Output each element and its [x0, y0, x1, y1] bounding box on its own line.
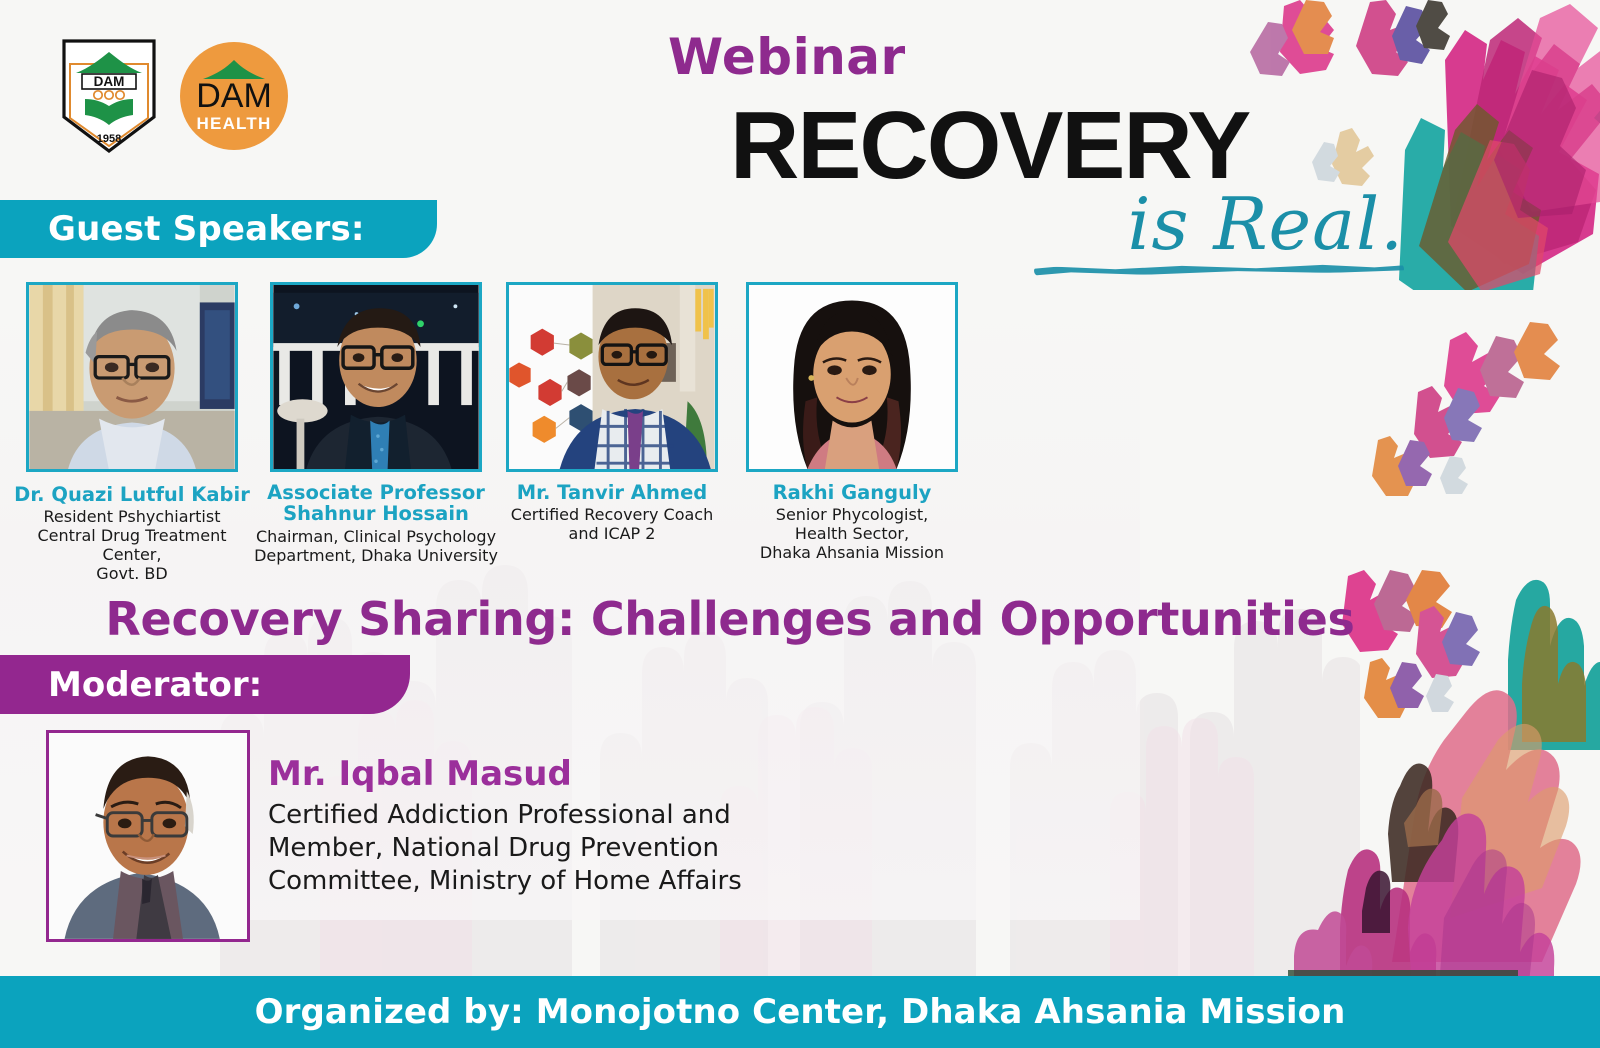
recovery-word: RECOVERY	[730, 100, 1410, 191]
speaker-photo-tanvir-ahmed	[506, 282, 718, 472]
dam-health-acronym: DAM	[196, 79, 272, 113]
speaker-meta: Rakhi Ganguly Senior Phycologist, Health…	[730, 482, 974, 563]
speaker-role: Senior Phycologist, Health Sector, Dhaka…	[730, 506, 974, 562]
butterflies-decoration-icon	[1300, 300, 1600, 600]
speaker-meta: Dr. Quazi Lutful Kabir Resident Pshychia…	[6, 484, 258, 583]
moderator-role: Certified Addiction Professional and Mem…	[268, 799, 888, 898]
speaker-card: Mr. Tanvir Ahmed Certified Recovery Coac…	[506, 282, 718, 472]
speaker-role: Resident Pshychiartist Central Drug Trea…	[6, 508, 258, 583]
moderator-name: Mr. Iqbal Masud	[268, 755, 888, 794]
speaker-photo-rakhi-ganguly	[746, 282, 958, 472]
speaker-name: Dr. Quazi Lutful Kabir	[6, 484, 258, 505]
webinar-label: Webinar	[668, 28, 906, 86]
moderator-photo-iqbal-masud	[46, 730, 250, 942]
speaker-meta: Associate Professor Shahnur Hossain Chai…	[244, 482, 508, 565]
recovery-is-real-logo: RECOVERY is Real.	[730, 100, 1410, 274]
speaker-card: Rakhi Ganguly Senior Phycologist, Health…	[746, 282, 958, 472]
speaker-card: Associate Professor Shahnur Hossain Chai…	[270, 282, 482, 472]
speakers-section: Dr. Quazi Lutful Kabir Resident Pshychia…	[0, 282, 970, 478]
dam-health-sub: HEALTH	[197, 114, 272, 134]
speaker-photo-shahnur-hossain	[270, 282, 482, 472]
speaker-meta: Mr. Tanvir Ahmed Certified Recovery Coac…	[496, 482, 728, 544]
moderator-label: Moderator:	[48, 665, 262, 705]
speaker-photo-quazi-lutful-kabir	[26, 282, 238, 472]
svg-text:1958: 1958	[97, 133, 121, 145]
speaker-card: Dr. Quazi Lutful Kabir Resident Pshychia…	[26, 282, 238, 472]
organizer-bar: Organized by: Monojotno Center, Dhaka Ah…	[0, 976, 1600, 1048]
guest-speakers-label: Guest Speakers:	[48, 209, 365, 249]
dam-health-logo-icon: DAM HEALTH	[180, 42, 288, 150]
speaker-role: Chairman, Clinical Psychology Department…	[244, 528, 508, 565]
svg-text:DAM: DAM	[94, 74, 125, 89]
dam-shield-logo-icon: DAM 1958	[60, 38, 158, 154]
speaker-name: Associate Professor Shahnur Hossain	[244, 482, 508, 525]
logo-group: DAM 1958 DAM HEALTH	[60, 38, 288, 154]
speaker-role: Certified Recovery Coach and ICAP 2	[496, 506, 728, 543]
organizer-text: Organized by: Monojotno Center, Dhaka Ah…	[255, 992, 1346, 1032]
guest-speakers-banner: Guest Speakers:	[0, 200, 437, 258]
speaker-name: Mr. Tanvir Ahmed	[496, 482, 728, 503]
moderator-info: Mr. Iqbal Masud Certified Addiction Prof…	[268, 755, 888, 898]
page-title: Recovery Sharing: Challenges and Opportu…	[0, 592, 1460, 646]
speaker-name: Rakhi Ganguly	[730, 482, 974, 503]
moderator-banner: Moderator:	[0, 655, 410, 714]
webinar-poster: DAM 1958 DAM HEALTH Webinar RECOVERY is …	[0, 0, 1600, 1048]
